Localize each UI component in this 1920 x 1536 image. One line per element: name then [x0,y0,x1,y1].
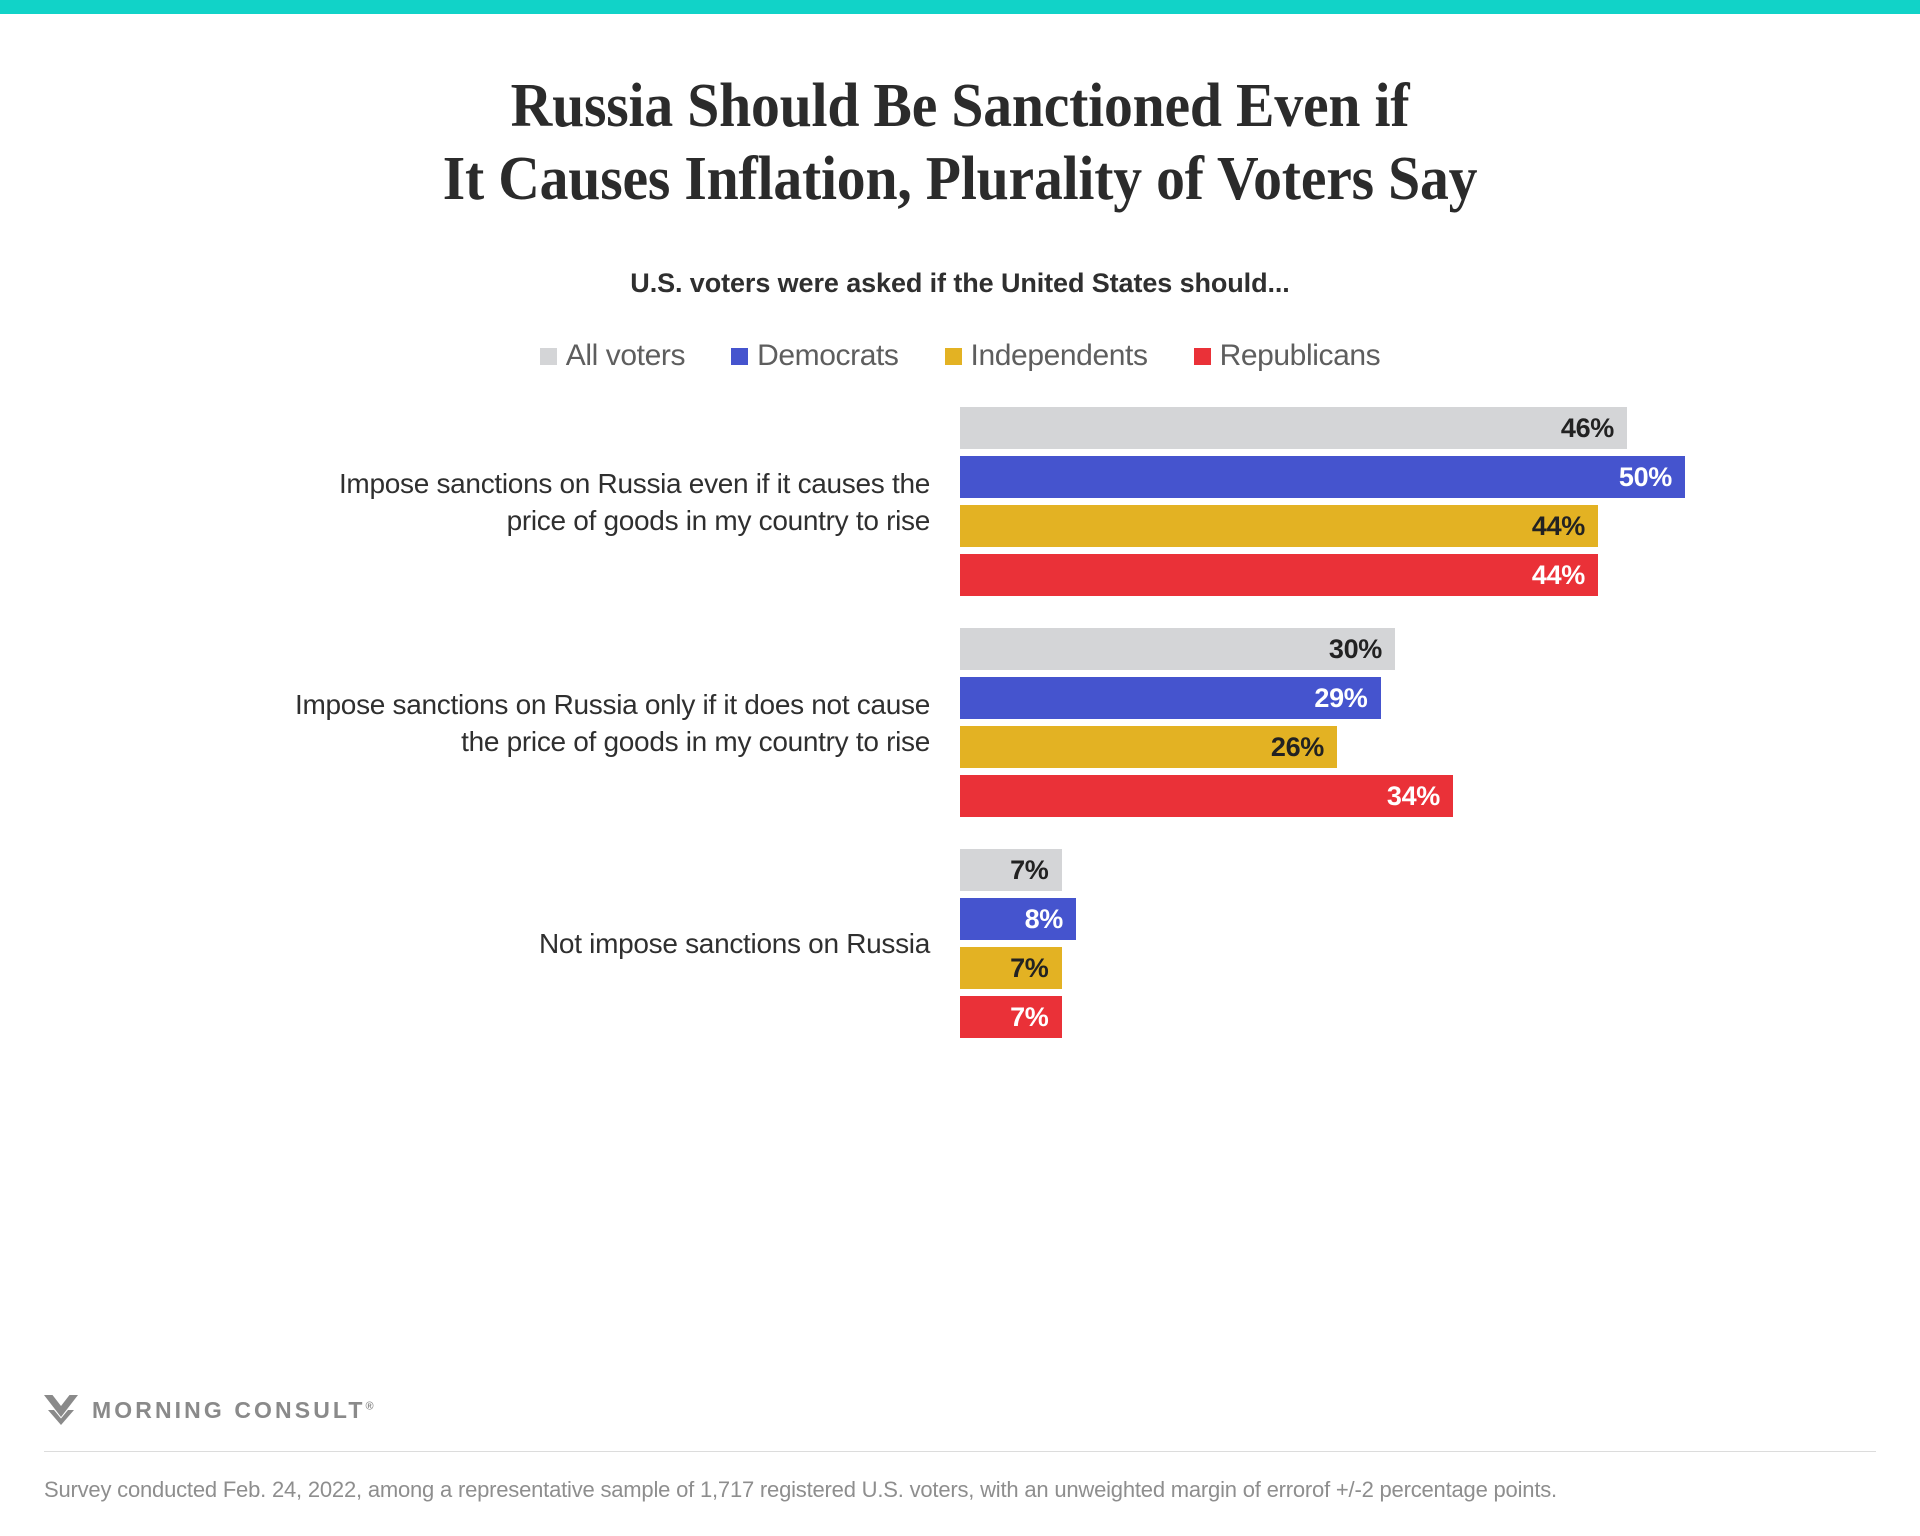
bar-democrats[interactable]: 50% [960,456,1685,498]
brand-name: MORNING CONSULT [92,1397,366,1423]
chart-header: Russia Should Be Sanctioned Even if It C… [0,14,1920,299]
category-label: Not impose sanctions on Russia [0,925,960,962]
page-title: Russia Should Be Sanctioned Even if It C… [337,70,1583,216]
bar-value-label: 50% [1619,462,1672,493]
bar-row: 34% [960,775,1920,817]
bar-independents[interactable]: 44% [960,505,1598,547]
brand-wordmark: MORNING CONSULT® [92,1397,374,1424]
bar-group: Impose sanctions on Russia only if it do… [0,628,1920,817]
bar-row: 7% [960,947,1920,989]
legend-item-independents[interactable]: Independents [945,339,1148,373]
legend-swatch-icon [1194,348,1211,365]
bar-all-voters[interactable]: 30% [960,628,1395,670]
page-title-line-2: It Causes Inflation, Plurality of Voters… [337,143,1583,216]
brand-logo: MORNING CONSULT® [0,1395,1920,1451]
legend-swatch-icon [731,348,748,365]
category-label-line-1: Impose sanctions on Russia only if it do… [295,689,930,720]
bar-row: 8% [960,898,1920,940]
registered-mark: ® [366,1400,374,1412]
chart-footer: MORNING CONSULT® Survey conducted Feb. 2… [0,1395,1920,1536]
bar-republicans[interactable]: 7% [960,996,1062,1038]
bar-row: 7% [960,849,1920,891]
legend-item-democrats[interactable]: Democrats [731,339,898,373]
bar-all-voters[interactable]: 7% [960,849,1062,891]
bar-row: 46% [960,407,1920,449]
category-label-line-1: Impose sanctions on Russia even if it ca… [339,468,930,499]
bar-group: Impose sanctions on Russia even if it ca… [0,407,1920,596]
bar-value-label: 44% [1532,560,1585,591]
legend-label: Republicans [1220,339,1381,373]
bar-row: 50% [960,456,1920,498]
category-label-line-2: price of goods in my country to rise [507,505,930,536]
bar-group: Not impose sanctions on Russia 7% 8% 7% [0,849,1920,1038]
bar-set: 30% 29% 26% 34% [960,628,1920,817]
bar-value-label: 8% [1025,904,1063,935]
bar-row: 30% [960,628,1920,670]
bar-independents[interactable]: 7% [960,947,1062,989]
survey-note: Survey conducted Feb. 24, 2022, among a … [0,1452,1888,1536]
bar-value-label: 26% [1271,732,1324,763]
bar-value-label: 44% [1532,511,1585,542]
legend-item-all-voters[interactable]: All voters [540,339,685,373]
bar-row: 44% [960,505,1920,547]
chart-legend: All voters Democrats Independents Republ… [0,339,1920,373]
bar-independents[interactable]: 26% [960,726,1337,768]
bar-set: 7% 8% 7% 7% [960,849,1920,1038]
bar-value-label: 7% [1010,953,1048,984]
bar-all-voters[interactable]: 46% [960,407,1627,449]
bar-row: 44% [960,554,1920,596]
legend-swatch-icon [540,348,557,365]
bar-value-label: 29% [1314,683,1367,714]
bar-democrats[interactable]: 29% [960,677,1381,719]
category-label-line-2: the price of goods in my country to rise [461,726,930,757]
legend-swatch-icon [945,348,962,365]
bar-row: 26% [960,726,1920,768]
category-label-line-1: Not impose sanctions on Russia [539,928,930,959]
legend-item-republicans[interactable]: Republicans [1194,339,1381,373]
morning-consult-chevron-icon [44,1395,78,1425]
page-title-line-1: Russia Should Be Sanctioned Even if [337,70,1583,143]
bar-set: 46% 50% 44% 44% [960,407,1920,596]
bar-republicans[interactable]: 44% [960,554,1598,596]
bar-row: 29% [960,677,1920,719]
legend-label: All voters [566,339,685,373]
bar-republicans[interactable]: 34% [960,775,1453,817]
bar-value-label: 30% [1329,634,1382,665]
bar-row: 7% [960,996,1920,1038]
chart-subtitle: U.S. voters were asked if the United Sta… [0,268,1920,299]
bar-value-label: 7% [1010,855,1048,886]
accent-bar [0,0,1920,14]
bar-democrats[interactable]: 8% [960,898,1076,940]
category-label: Impose sanctions on Russia even if it ca… [0,465,960,539]
bar-value-label: 7% [1010,1002,1048,1033]
category-label: Impose sanctions on Russia only if it do… [0,686,960,760]
legend-label: Democrats [757,339,898,373]
legend-label: Independents [971,339,1148,373]
bar-value-label: 46% [1561,413,1614,444]
bar-chart: Impose sanctions on Russia even if it ca… [0,407,1920,1038]
bar-value-label: 34% [1387,781,1440,812]
